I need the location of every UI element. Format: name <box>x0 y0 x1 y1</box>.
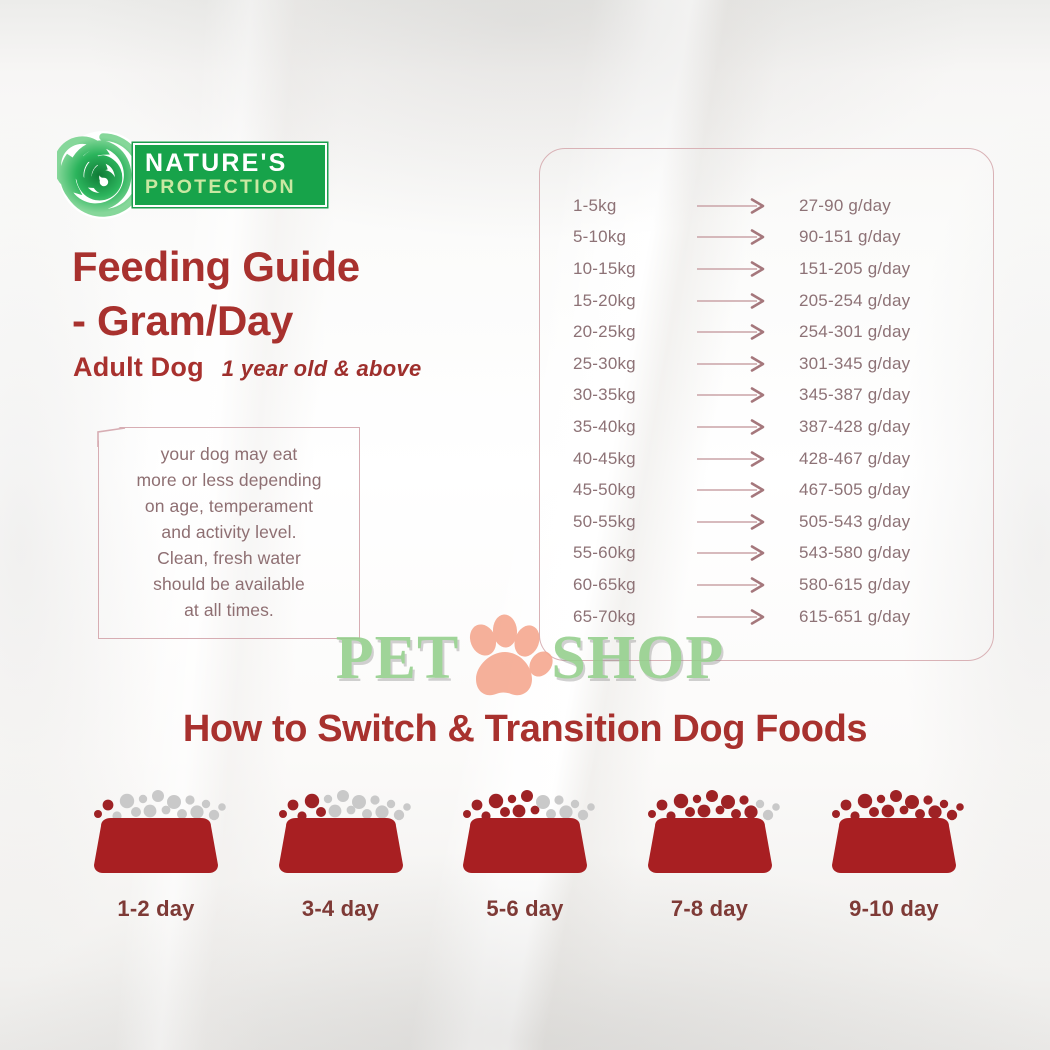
feeding-weight-range: 10-15kg <box>573 259 685 279</box>
transition-bowl-label: 3-4 day <box>302 896 379 922</box>
page-subtitle: Adult Dog 1 year old & above <box>73 352 422 383</box>
arrow-right-icon <box>685 356 781 372</box>
logo-line-1: NATURE'S <box>145 151 325 176</box>
transition-bowl-label: 7-8 day <box>671 896 748 922</box>
arrow-right-icon <box>685 514 781 530</box>
feeding-weight-range: 40-45kg <box>573 449 685 469</box>
feeding-amount: 428-467 g/day <box>781 449 973 469</box>
transition-bowl-item: 9-10 day <box>806 766 982 922</box>
feeding-amount: 301-345 g/day <box>781 354 973 374</box>
feeding-table-row: 35-40kg387-428 g/day <box>573 411 973 443</box>
transition-bowl-item: 1-2 day <box>68 766 244 922</box>
arrow-right-icon <box>685 387 781 403</box>
logo-line-2: PROTECTION <box>145 176 325 198</box>
arrow-right-icon <box>685 324 781 340</box>
dog-bowl-icon <box>819 766 969 888</box>
feeding-weight-range: 35-40kg <box>573 417 685 437</box>
feeding-amount: 543-580 g/day <box>781 543 973 563</box>
feeding-amount: 580-615 g/day <box>781 575 973 595</box>
watermark-word-pet: PET <box>336 627 460 689</box>
feeding-weight-range: 15-20kg <box>573 291 685 311</box>
switch-section-title: How to Switch & Transition Dog Foods <box>0 708 1050 751</box>
transition-bowl-item: 3-4 day <box>253 766 429 922</box>
dog-bowl-icon <box>81 766 231 888</box>
feeding-amount: 254-301 g/day <box>781 322 973 342</box>
feeding-table-row: 15-20kg205-254 g/day <box>573 285 973 317</box>
transition-bowl-item: 5-6 day <box>437 766 613 922</box>
transition-bowl-label: 9-10 day <box>849 896 939 922</box>
feeding-amount: 27-90 g/day <box>781 196 973 216</box>
feeding-guide-panel: NATURE'S PROTECTION Feeding Guide - Gram… <box>0 0 1050 1050</box>
feeding-amount: 205-254 g/day <box>781 291 973 311</box>
feeding-weight-range: 60-65kg <box>573 575 685 595</box>
arrow-right-icon <box>685 451 781 467</box>
feeding-table-row: 50-55kg505-543 g/day <box>573 506 973 538</box>
feeding-note-box: your dog may eat more or less depending … <box>98 427 360 639</box>
feeding-amount: 151-205 g/day <box>781 259 973 279</box>
subtitle-audience: Adult Dog <box>73 352 204 383</box>
feeding-weight-range: 5-10kg <box>573 227 685 247</box>
feeding-note-text: your dog may eat more or less depending … <box>124 442 333 623</box>
feeding-amount: 615-651 g/day <box>781 607 973 627</box>
dog-bowl-icon <box>450 766 600 888</box>
feeding-amount: 90-151 g/day <box>781 227 973 247</box>
feeding-weight-range: 25-30kg <box>573 354 685 374</box>
feeding-amount: 505-543 g/day <box>781 512 973 532</box>
feeding-table-row: 40-45kg428-467 g/day <box>573 443 973 475</box>
page-title-line-1: Feeding Guide <box>72 240 502 294</box>
feeding-amount: 387-428 g/day <box>781 417 973 437</box>
feeding-table-row: 5-10kg90-151 g/day <box>573 222 973 254</box>
feeding-weight-range: 1-5kg <box>573 196 685 216</box>
paw-print-icon <box>457 614 553 702</box>
arrow-right-icon <box>685 198 781 214</box>
pet-shop-watermark: PET SHOP <box>320 612 740 704</box>
arrow-right-icon <box>685 482 781 498</box>
watermark-word-shop: SHOP <box>551 627 724 689</box>
arrow-right-icon <box>685 229 781 245</box>
page-title: Feeding Guide - Gram/Day <box>72 240 502 348</box>
subtitle-age-range: 1 year old & above <box>222 356 422 382</box>
feeding-weight-range: 30-35kg <box>573 385 685 405</box>
arrow-right-icon <box>685 293 781 309</box>
feeding-table-row: 25-30kg301-345 g/day <box>573 348 973 380</box>
feeding-table: 1-5kg27-90 g/day5-10kg90-151 g/day10-15k… <box>573 190 973 632</box>
feeding-amount: 345-387 g/day <box>781 385 973 405</box>
dog-bowl-icon <box>266 766 416 888</box>
arrow-right-icon <box>685 577 781 593</box>
feeding-table-row: 1-5kg27-90 g/day <box>573 190 973 222</box>
arrow-right-icon <box>685 261 781 277</box>
feeding-amount: 467-505 g/day <box>781 480 973 500</box>
transition-bowl-label: 5-6 day <box>486 896 563 922</box>
feeding-table-row: 60-65kg580-615 g/day <box>573 569 973 601</box>
logo-wordmark-plate: NATURE'S PROTECTION <box>133 143 327 207</box>
feeding-table-row: 45-50kg467-505 g/day <box>573 474 973 506</box>
arrow-right-icon <box>685 419 781 435</box>
feeding-weight-range: 45-50kg <box>573 480 685 500</box>
feeding-table-row: 30-35kg345-387 g/day <box>573 380 973 412</box>
transition-bowl-item: 7-8 day <box>622 766 798 922</box>
feeding-table-row: 55-60kg543-580 g/day <box>573 538 973 570</box>
arrow-right-icon <box>685 545 781 561</box>
transition-bowl-label: 1-2 day <box>117 896 194 922</box>
feeding-table-row: 20-25kg254-301 g/day <box>573 316 973 348</box>
feeding-weight-range: 20-25kg <box>573 322 685 342</box>
dog-bowl-icon <box>635 766 785 888</box>
feeding-weight-range: 50-55kg <box>573 512 685 532</box>
natures-protection-logo: NATURE'S PROTECTION <box>57 127 327 223</box>
transition-bowls-row: 1-2 day3-4 day5-6 day7-8 day9-10 day <box>68 766 982 922</box>
page-title-line-2: - Gram/Day <box>72 294 502 348</box>
feeding-weight-range: 55-60kg <box>573 543 685 563</box>
feeding-table-row: 10-15kg151-205 g/day <box>573 253 973 285</box>
